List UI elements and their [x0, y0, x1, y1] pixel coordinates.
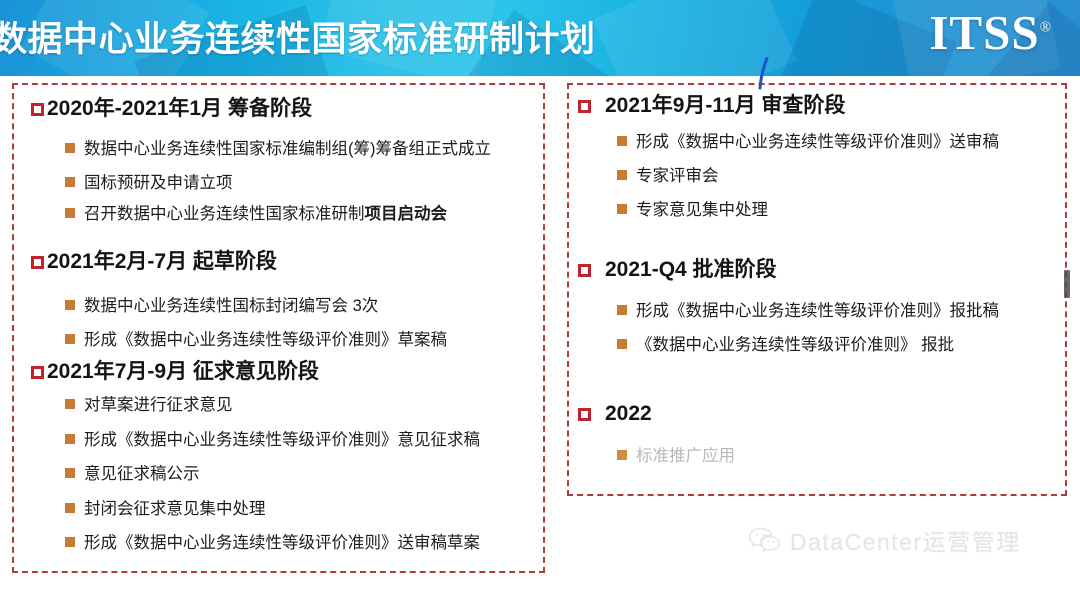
list-item-label: 意见征求稿公示: [84, 465, 200, 485]
list-item-label: 形成《数据中心业务连续性等级评价准则》报批稿: [636, 302, 999, 322]
red-square-bullet-icon: [31, 366, 44, 379]
list-item: 形成《数据中心业务连续性等级评价准则》送审稿草案: [65, 534, 480, 554]
phase-heading-label: 2021年7月-9月 征求意见阶段: [47, 360, 319, 383]
registered-mark-icon: ®: [1040, 20, 1052, 36]
phase-heading-review: 2021年9月-11月 审查阶段: [578, 94, 845, 117]
list-item: 形成《数据中心业务连续性等级评价准则》草案稿: [65, 331, 447, 351]
orange-square-bullet-icon: [65, 468, 75, 478]
list-item: 召开数据中心业务连续性国家标准研制项目启动会: [65, 205, 447, 225]
red-square-bullet-icon: [31, 103, 44, 116]
list-item: 国标预研及申请立项: [65, 174, 233, 194]
phase-heading-label: 2021-Q4 批准阶段: [605, 258, 777, 281]
itss-logo-text: ITSS: [929, 5, 1039, 60]
orange-square-bullet-icon: [617, 136, 627, 146]
list-item-label: 专家意见集中处理: [636, 201, 768, 221]
red-square-bullet-icon: [578, 100, 591, 113]
list-item: 专家评审会: [617, 167, 719, 187]
list-item: 《数据中心业务连续性等级评价准则》 报批: [617, 336, 954, 356]
list-item-label: 召开数据中心业务连续性国家标准研制: [84, 205, 365, 225]
list-item-label: 形成《数据中心业务连续性等级评价准则》送审稿: [636, 133, 999, 153]
red-square-bullet-icon: [31, 256, 44, 269]
list-item-label: 对草案进行征求意见: [84, 396, 233, 416]
list-item-label: 数据中心业务连续性国家标准编制组(筹)筹备组正式成立: [84, 140, 491, 160]
watermark: DataCenter运营管理: [748, 523, 1021, 557]
list-item-label: 封闭会征求意见集中处理: [84, 500, 266, 520]
list-item: 专家意见集中处理: [617, 201, 768, 221]
watermark-label: DataCenter运营管理: [790, 523, 1021, 557]
list-item-label: 标准推广应用: [636, 447, 735, 467]
list-item-label: 《数据中心业务连续性等级评价准则》 报批: [636, 336, 954, 356]
red-square-bullet-icon: [578, 408, 591, 421]
orange-square-bullet-icon: [617, 204, 627, 214]
itss-logo: ITSS®: [929, 8, 1052, 57]
list-item-emphasis: 项目启动会: [365, 205, 448, 225]
phase-heading-label: 2021年9月-11月 审查阶段: [605, 94, 845, 117]
list-item-label: 形成《数据中心业务连续性等级评价准则》送审稿草案: [84, 534, 480, 554]
phase-heading-label: 2021年2月-7月 起草阶段: [47, 250, 277, 273]
phase-heading-label: 2020年-2021年1月 筹备阶段: [47, 97, 312, 120]
list-item: 数据中心业务连续性国标封闭编写会 3次: [65, 297, 378, 317]
orange-square-bullet-icon: [617, 450, 627, 460]
orange-square-bullet-icon: [65, 177, 75, 187]
wechat-icon: [748, 526, 782, 554]
list-item-label: 专家评审会: [636, 167, 719, 187]
list-item-label: 形成《数据中心业务连续性等级评价准则》草案稿: [84, 331, 447, 351]
list-item-label: 形成《数据中心业务连续性等级评价准则》意见征求稿: [84, 431, 480, 451]
phase-heading-approval: 2021-Q4 批准阶段: [578, 258, 777, 281]
orange-square-bullet-icon: [65, 399, 75, 409]
phase-heading-preparation: 2020年-2021年1月 筹备阶段: [31, 97, 312, 120]
phase-heading-2022: 2022: [578, 402, 652, 425]
phase-heading-label: 2022: [605, 402, 652, 425]
list-item: 数据中心业务连续性国家标准编制组(筹)筹备组正式成立: [65, 140, 491, 160]
orange-square-bullet-icon: [617, 339, 627, 349]
phase-heading-drafting: 2021年2月-7月 起草阶段: [31, 250, 277, 273]
orange-square-bullet-icon: [65, 300, 75, 310]
orange-square-bullet-icon: [65, 503, 75, 513]
red-square-bullet-icon: [578, 264, 591, 277]
orange-square-bullet-icon: [617, 305, 627, 315]
list-item: 意见征求稿公示: [65, 465, 200, 485]
pen-stroke-artifact: [757, 57, 771, 90]
page-header: 数据中心业务连续性国家标准研制计划 ITSS®: [0, 0, 1080, 76]
list-item: 形成《数据中心业务连续性等级评价准则》报批稿: [617, 302, 999, 322]
list-item-label: 国标预研及申请立项: [84, 174, 233, 194]
phase-heading-public-comment: 2021年7月-9月 征求意见阶段: [31, 360, 319, 383]
orange-square-bullet-icon: [65, 434, 75, 444]
list-item-label: 数据中心业务连续性国标封闭编写会 3次: [84, 297, 378, 317]
orange-square-bullet-icon: [65, 334, 75, 344]
page-title: 数据中心业务连续性国家标准研制计划: [0, 11, 596, 62]
orange-square-bullet-icon: [65, 208, 75, 218]
list-item: 形成《数据中心业务连续性等级评价准则》送审稿: [617, 133, 999, 153]
list-item: 对草案进行征求意见: [65, 396, 233, 416]
edge-artifact: [1064, 270, 1070, 298]
list-item: 标准推广应用: [617, 447, 735, 467]
orange-square-bullet-icon: [65, 537, 75, 547]
list-item: 封闭会征求意见集中处理: [65, 500, 266, 520]
orange-square-bullet-icon: [65, 143, 75, 153]
orange-square-bullet-icon: [617, 170, 627, 180]
list-item: 形成《数据中心业务连续性等级评价准则》意见征求稿: [65, 431, 480, 451]
